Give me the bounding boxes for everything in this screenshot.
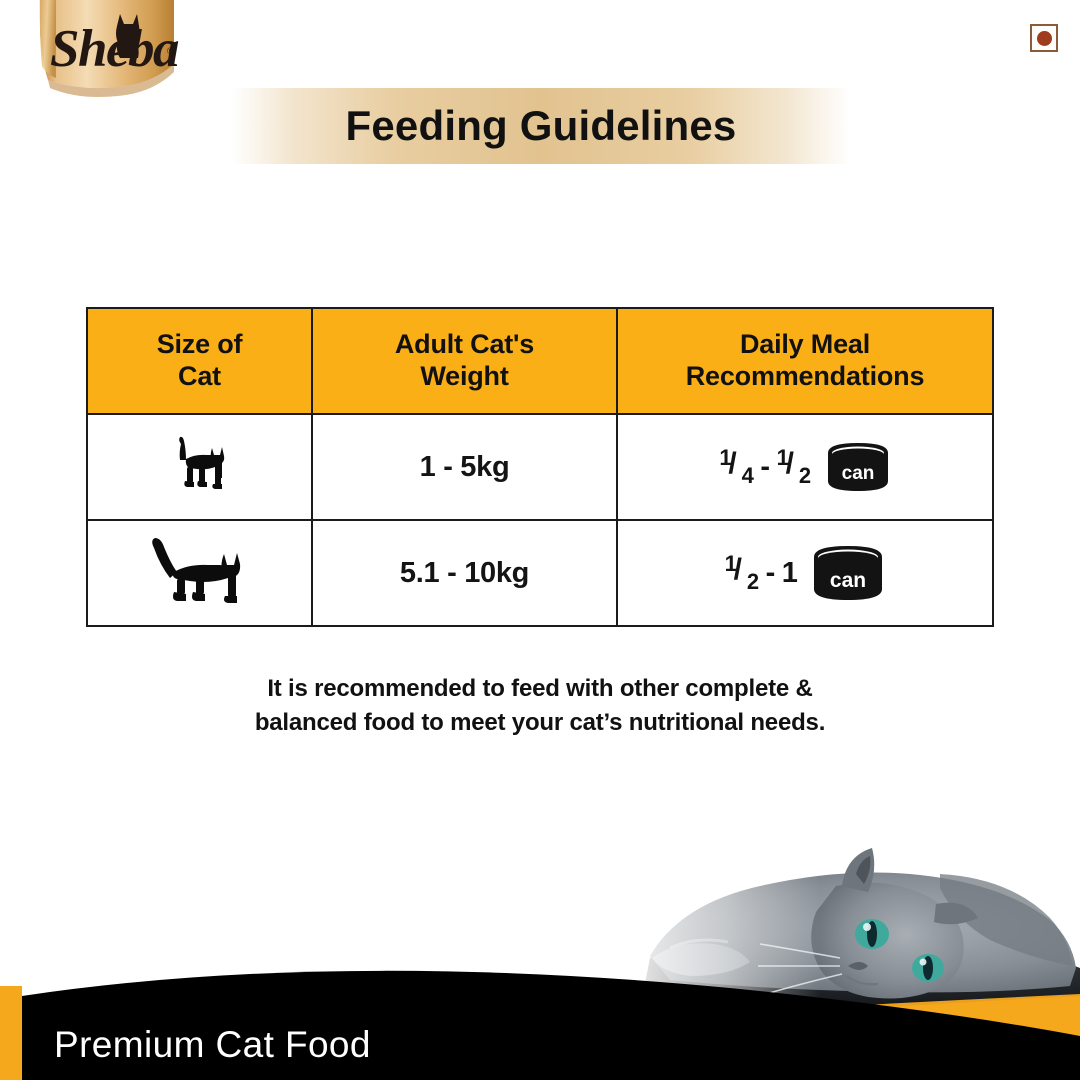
fraction-half: 1 / 2 bbox=[725, 553, 759, 593]
column-header-size-line2: Cat bbox=[88, 361, 311, 393]
column-header-size-of-cat: Size of Cat bbox=[87, 308, 312, 414]
column-header-daily-meal-recommendations: Daily Meal Recommendations bbox=[617, 308, 993, 414]
fraction-half: 1 / 2 bbox=[777, 447, 811, 487]
footer-title: Premium Cat Food bbox=[54, 1024, 371, 1066]
table-row: 1 - 5kg 1 / 4 - 1 / 2 bbox=[87, 414, 993, 520]
table-row: 5.1 - 10kg 1 / 2 - 1 bbox=[87, 520, 993, 626]
feeding-guidelines-table: Size of Cat Adult Cat's Weight Daily Mea… bbox=[86, 307, 994, 627]
feeding-note-line2: balanced food to meet your cat’s nutriti… bbox=[140, 706, 940, 740]
cell-size-large bbox=[87, 520, 312, 626]
svg-text:Sheba: Sheba bbox=[50, 20, 179, 78]
can-label: can bbox=[841, 463, 874, 484]
range-dash: - bbox=[766, 557, 775, 590]
fraction-quarter: 1 / 4 bbox=[719, 447, 753, 487]
feeding-note-line1: It is recommended to feed with other com… bbox=[140, 672, 940, 706]
column-header-size-line1: Size of bbox=[88, 329, 311, 361]
cell-weight: 1 - 5kg bbox=[312, 414, 617, 520]
cell-meal-recommendation: 1 / 2 - 1 can bbox=[617, 520, 993, 626]
feeding-note: It is recommended to feed with other com… bbox=[140, 672, 940, 740]
footer-banner: Premium Cat Food bbox=[0, 960, 1080, 1080]
column-header-adult-cats-weight: Adult Cat's Weight bbox=[312, 308, 617, 414]
column-header-meal-line1: Daily Meal bbox=[618, 329, 992, 361]
column-header-weight-line1: Adult Cat's bbox=[313, 329, 616, 361]
table-header-row: Size of Cat Adult Cat's Weight Daily Mea… bbox=[87, 308, 993, 414]
non-vegetarian-dot bbox=[1037, 31, 1052, 46]
cell-meal-recommendation: 1 / 4 - 1 / 2 bbox=[617, 414, 993, 520]
cell-size-small bbox=[87, 414, 312, 520]
large-cat-silhouette-icon bbox=[144, 534, 256, 608]
range-dash: - bbox=[760, 451, 769, 484]
svg-text:®: ® bbox=[167, 46, 174, 56]
cell-weight: 5.1 - 10kg bbox=[312, 520, 617, 626]
column-header-weight-line2: Weight bbox=[313, 361, 616, 393]
sheba-logo: Sheba ® bbox=[34, 0, 182, 110]
column-header-meal-line2: Recommendations bbox=[618, 361, 992, 393]
can-label: can bbox=[830, 569, 866, 592]
small-cat-silhouette-icon bbox=[163, 434, 237, 496]
page-title: Feeding Guidelines bbox=[232, 88, 850, 164]
can-icon: can bbox=[811, 544, 885, 602]
whole-number-one: 1 bbox=[782, 557, 798, 590]
can-icon: can bbox=[825, 441, 891, 493]
non-vegetarian-mark bbox=[1030, 24, 1058, 52]
